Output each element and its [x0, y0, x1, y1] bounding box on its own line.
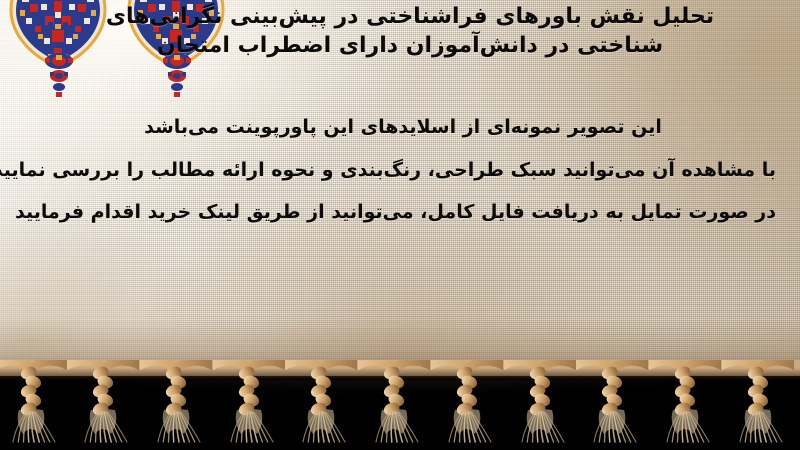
carpet-fringe-band — [0, 360, 800, 450]
carpet-tassel — [213, 360, 285, 450]
slide-title-line-1: تحلیل نقش باورهای فراشناختی در پیش‌بینی … — [0, 4, 800, 30]
carpet-tassel — [285, 360, 357, 450]
carpet-tassel — [649, 360, 721, 450]
carpet-tassel — [576, 360, 648, 450]
slide-body-line-3: در صورت تمایل به دریافت فایل کامل، می‌تو… — [0, 200, 800, 224]
slide-title-line-2: شناختی در دانش‌آموزان دارای اضطراب امتحا… — [0, 33, 800, 59]
slide-body-line-1: این تصویر نمونه‌ای از اسلایدهای این پاور… — [0, 115, 800, 139]
carpet-tassel — [358, 360, 430, 450]
slide-body-line-2: با مشاهده آن می‌توانید سبک طراحی، رنگ‌بن… — [0, 158, 800, 182]
slide-canvas: تحلیل نقش باورهای فراشناختی در پیش‌بینی … — [0, 0, 800, 450]
carpet-tassel — [504, 360, 576, 450]
carpet-tassel — [0, 360, 67, 450]
carpet-tassel — [67, 360, 139, 450]
carpet-tassel — [140, 360, 212, 450]
carpet-tassel — [722, 360, 794, 450]
carpet-tassel — [431, 360, 503, 450]
